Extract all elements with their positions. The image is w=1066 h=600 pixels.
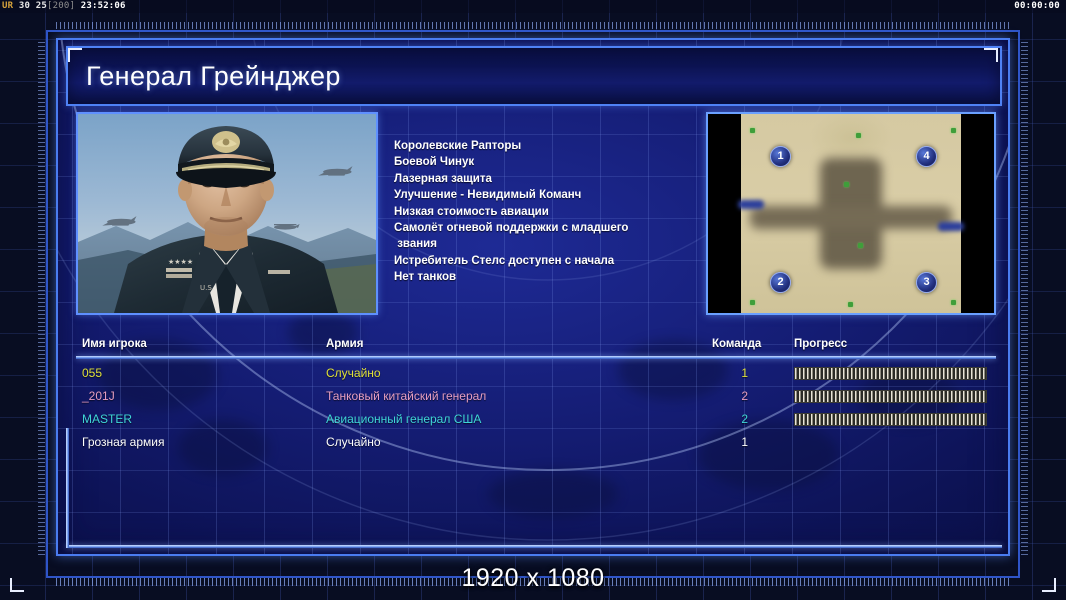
- frame-line-left: [46, 30, 48, 578]
- cell-team: 2: [712, 385, 748, 408]
- ability-line: Низкая стоимость авиации: [394, 204, 694, 220]
- map-resource-marker: [750, 128, 755, 133]
- cell-team: 1: [712, 431, 748, 454]
- column-header-army: Армия: [326, 336, 363, 352]
- ability-line: звания: [394, 236, 694, 252]
- cell-player-name: MASTER: [82, 408, 132, 431]
- player-rows: 055Случайно1_201JТанковый китайский гене…: [76, 362, 996, 454]
- corner-bracket-top-left: [68, 48, 82, 62]
- map-preview-image: 1423: [708, 114, 994, 313]
- map-resource-marker: [844, 182, 849, 187]
- cell-player-name: _201J: [82, 385, 115, 408]
- ruler-ticks-right: [1021, 42, 1028, 558]
- progress-bar-fill: [795, 414, 986, 425]
- map-resource-marker: [951, 300, 956, 305]
- map-water-right: [938, 222, 964, 231]
- cell-army: Случайно: [326, 431, 381, 454]
- ability-line: Лазерная защита: [394, 171, 694, 187]
- map-resource-marker: [858, 243, 863, 248]
- table-row[interactable]: Грозная армияСлучайно1: [76, 431, 996, 454]
- column-header-team: Команда: [712, 336, 761, 352]
- frame-line-top: [46, 30, 1020, 32]
- status-seg-1: 30: [19, 1, 30, 11]
- network-status-text: UR 30 25[200] 23:52:06: [2, 1, 126, 12]
- map-start-position-4: 4: [916, 146, 937, 167]
- game-screen: UR 30 25[200] 23:52:06 00:00:00 Генер: [0, 0, 1066, 600]
- cell-army: Случайно: [326, 362, 381, 385]
- map-resource-marker: [848, 302, 853, 307]
- ruler-ticks-left: [38, 42, 45, 558]
- loading-screen-panel: Генерал Грейнджер: [56, 38, 1010, 556]
- svg-text:★★★★: ★★★★: [168, 258, 193, 266]
- ability-line: Королевские Рапторы: [394, 138, 694, 154]
- cell-player-name: 055: [82, 362, 102, 385]
- progress-bar: [794, 390, 987, 403]
- ability-line: Боевой Чинук: [394, 154, 694, 170]
- table-row[interactable]: _201JТанковый китайский генерал2: [76, 385, 996, 408]
- map-resource-marker: [856, 133, 861, 138]
- resolution-overlay: 1920 x 1080: [0, 562, 1066, 594]
- map-resource-marker: [750, 300, 755, 305]
- progress-bar: [794, 413, 987, 426]
- match-timer: 00:00:00: [1014, 1, 1060, 12]
- map-start-position-1: 1: [770, 146, 791, 167]
- table-row[interactable]: MASTERАвиационный генерал США2: [76, 408, 996, 431]
- general-portrait-image: ★★★★ U.S.: [78, 114, 376, 313]
- progress-bar-fill: [795, 391, 986, 402]
- ability-line: Самолёт огневой поддержки с младшего: [394, 220, 694, 236]
- cell-army: Авиационный генерал США: [326, 408, 481, 431]
- ability-line: Истребитель Стелс доступен с начала: [394, 253, 694, 269]
- cell-player-name: Грозная армия: [82, 431, 164, 454]
- cell-team: 1: [712, 362, 748, 385]
- map-start-position-2: 2: [770, 272, 791, 293]
- top-status-bar: UR 30 25[200] 23:52:06 00:00:00: [0, 0, 1066, 13]
- progress-bar: [794, 367, 987, 380]
- player-list-header: Имя игрока Армия Команда Прогресс: [76, 336, 996, 356]
- cell-team: 2: [712, 408, 748, 431]
- status-seg-3: [200]: [47, 1, 75, 11]
- table-row[interactable]: 055Случайно1: [76, 362, 996, 385]
- frame-line-right: [1018, 30, 1020, 578]
- panel-bottom-divider: [66, 545, 1002, 548]
- map-start-position-3: 3: [916, 272, 937, 293]
- general-portrait-frame: ★★★★ U.S.: [76, 112, 378, 315]
- page-title: Генерал Грейнджер: [86, 57, 341, 95]
- ability-line: Улучшение - Невидимый Команч: [394, 187, 694, 203]
- map-center-ridge-horizontal: [750, 206, 952, 230]
- cell-army: Танковый китайский генерал: [326, 385, 486, 408]
- ruler-ticks-top: [56, 22, 1010, 29]
- map-water-left: [738, 200, 764, 209]
- map-preview-frame: 1423: [706, 112, 996, 315]
- general-abilities-list: Королевские Рапторы Боевой Чинук Лазерна…: [394, 138, 694, 286]
- corner-bracket-top-right: [984, 48, 998, 62]
- header-divider: [76, 356, 996, 359]
- map-letterbox-left: [708, 114, 741, 313]
- ability-line: Нет танков: [394, 269, 694, 285]
- column-header-progress: Прогресс: [794, 336, 847, 352]
- svg-text:U.S.: U.S.: [200, 284, 214, 292]
- status-clock: 23:52:06: [81, 1, 126, 11]
- progress-bar-fill: [795, 368, 986, 379]
- status-seg-2: 25: [36, 1, 47, 11]
- map-resource-marker: [951, 128, 956, 133]
- status-seg-0: UR: [2, 1, 13, 11]
- panel-left-divider: [66, 428, 69, 548]
- general-title-bar: Генерал Грейнджер: [66, 46, 1002, 106]
- column-header-player-name: Имя игрока: [82, 336, 147, 352]
- player-list: Имя игрока Армия Команда Прогресс 055Слу…: [76, 336, 996, 544]
- general-info-row: ★★★★ U.S.: [76, 112, 996, 320]
- map-letterbox-right: [961, 114, 994, 313]
